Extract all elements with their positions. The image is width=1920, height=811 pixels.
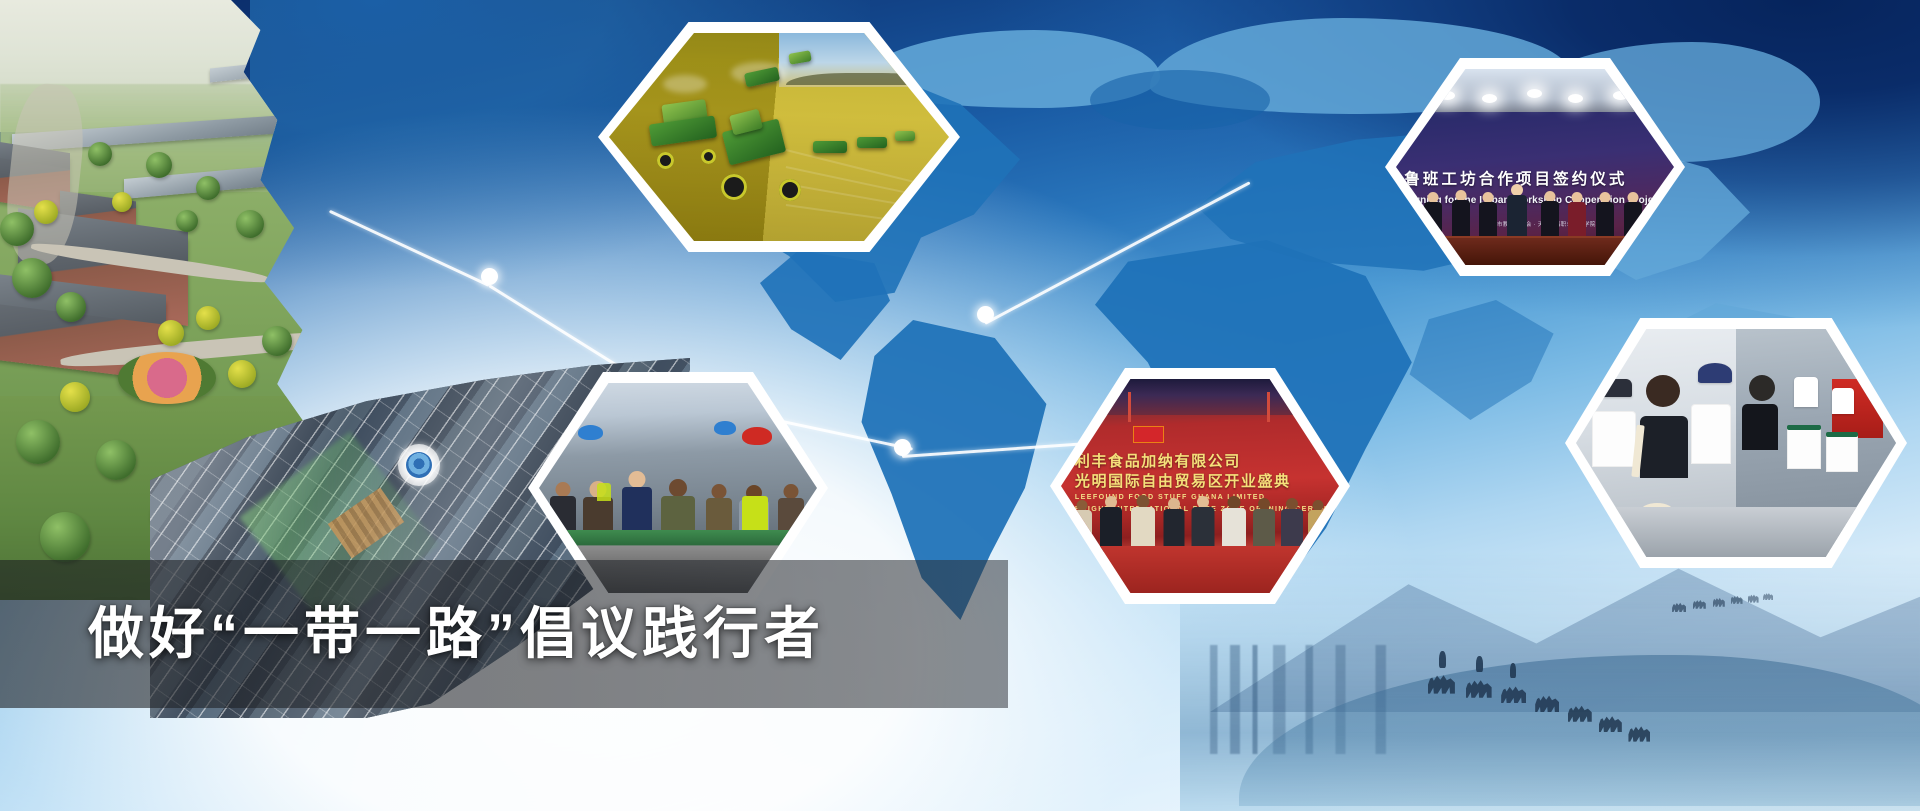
chef-coat (1691, 404, 1731, 464)
chinese-flag-graphic (1133, 426, 1164, 443)
tree (262, 326, 292, 356)
tree (34, 200, 58, 224)
hard-hat-blue (714, 421, 736, 435)
toque-hat (1794, 377, 1818, 407)
tree (60, 382, 90, 412)
tree (88, 142, 112, 166)
safety-vest (742, 496, 768, 530)
tree (146, 152, 172, 178)
tree (56, 292, 86, 322)
tree (228, 360, 256, 388)
belt-and-road-banner: 鲁班工坊合作项目签约仪式 Signing for the Luban Works… (0, 0, 1920, 811)
network-node (977, 306, 994, 323)
silk-road-caravan-illustration (1180, 551, 1920, 811)
tent-pole (1128, 392, 1131, 422)
chef-collar (1787, 425, 1821, 430)
tree (158, 320, 184, 346)
hard-hat-blue (578, 425, 603, 440)
tree (176, 210, 198, 232)
ceiling-spotlight (1527, 89, 1542, 98)
ghana-banner-chinese-line1: 利丰食品加纳有限公司 (1075, 450, 1328, 471)
chef-cap-blue (1698, 363, 1732, 383)
luban-banner-chinese: 鲁班工坊合作项目签约仪式 (1404, 167, 1668, 189)
chef-coat (1787, 425, 1821, 469)
toque-hat (1832, 388, 1854, 414)
ghana-banner-chinese-line2: 光明国际自由贸易区开业盛典 (1075, 470, 1328, 491)
safety-vest (597, 483, 611, 501)
chef-collar (1826, 432, 1858, 437)
network-node (481, 268, 498, 285)
tree (96, 440, 136, 480)
tree (236, 210, 264, 238)
chef-cap-dark (1598, 379, 1632, 397)
title-overlay-band: 做好“一带一路”倡议践行者 (0, 560, 1008, 708)
tree (40, 512, 90, 562)
ceiling-spotlight (1440, 91, 1455, 100)
network-node (894, 439, 911, 456)
tree (12, 258, 52, 298)
hard-hat-red (742, 427, 772, 445)
banner-title: 做好“一带一路”倡议践行者 (88, 606, 825, 662)
chef-coat (1592, 411, 1636, 467)
tree (196, 176, 220, 200)
chef-coat (1826, 432, 1858, 472)
circular-flower-garden (118, 352, 216, 404)
ceiling-spotlight (1613, 91, 1628, 100)
tree (196, 306, 220, 330)
tree (112, 192, 132, 212)
tree (0, 212, 34, 246)
tent-pole (1267, 392, 1270, 422)
tree (16, 420, 60, 464)
